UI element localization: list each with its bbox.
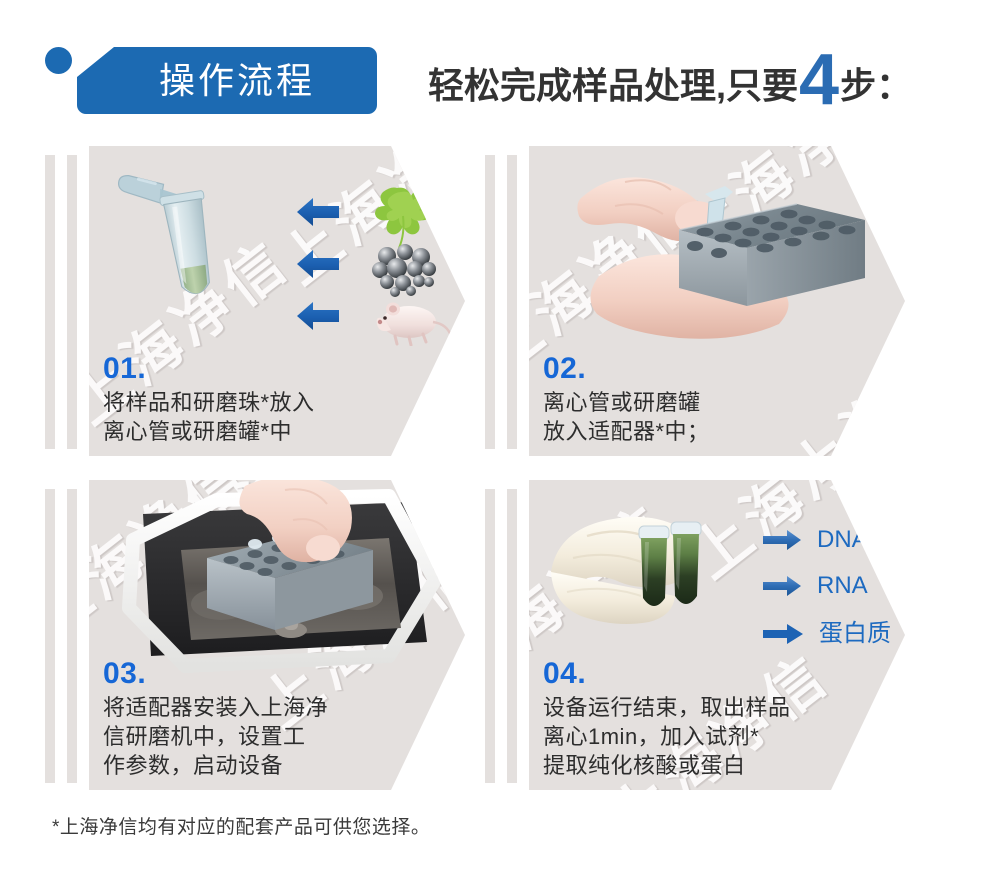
page-header: 操作流程 轻松完成样品处理,只要 4 步： <box>0 0 1000 140</box>
step-photo-01 <box>89 146 465 346</box>
step-description: 将样品和研磨珠*放入 离心管或研磨罐*中 <box>103 388 443 446</box>
output-label-protein: 蛋白质 <box>819 622 891 646</box>
arrow-right-icon <box>763 576 801 596</box>
card-accent-bar <box>45 155 55 449</box>
steel-beads-icon <box>372 244 436 297</box>
card-accent-bar <box>507 155 517 449</box>
step-text-block: 01. 将样品和研磨珠*放入 离心管或研磨罐*中 <box>103 354 443 446</box>
step-text-block: 03. 将适配器安装入上海净 信研磨机中，设置工 作参数，启动设备 <box>103 659 443 780</box>
headline-prefix: 轻松完成样品处理,只要 <box>428 57 798 109</box>
header-dot-decoration <box>45 47 72 74</box>
step-card-body: 上海净信 上海净信 上海净信 <box>529 480 905 790</box>
step-text-block: 02. 离心管或研磨罐 放入适配器*中； <box>543 354 883 446</box>
card-accent-bar <box>485 155 495 449</box>
page-title: 轻松完成样品处理,只要 4 步： <box>428 46 912 116</box>
section-badge: 操作流程 <box>77 47 377 114</box>
arrow-left-icon <box>297 302 339 330</box>
arrow-right-icon <box>763 624 803 644</box>
step-card-03: 上海净信 上海净信 上海净信 <box>45 480 465 790</box>
card-accent-bar <box>67 155 77 449</box>
card-accent-bar <box>485 489 495 783</box>
headline-step-count: 4 <box>799 52 839 110</box>
step-photo-02 <box>529 146 905 346</box>
arrow-left-icon <box>297 250 339 278</box>
arrow-right-icon <box>763 530 801 550</box>
hand-and-adapter-block-illustration <box>529 146 905 346</box>
step-card-04: 上海净信 上海净信 上海净信 <box>485 480 905 790</box>
footnote: *上海净信均有对应的配套产品可供您选择。 <box>52 812 430 839</box>
output-label-dna: DNA <box>817 528 868 552</box>
card-accent-bar <box>67 489 77 783</box>
tube-and-samples-illustration <box>89 146 465 346</box>
steps-grid: 上海净信 上海净信 上海净信 <box>0 146 1000 796</box>
leaf-icon <box>375 188 431 249</box>
step-card-body: 上海净信 上海净信 上海净信 <box>89 146 465 456</box>
step-card-02: 上海净信 上海净信 上海净信 <box>485 146 905 456</box>
step-photo-04: DNA RNA 蛋白质 <box>529 480 905 680</box>
step-number: 03. <box>103 659 443 689</box>
step-number: 04. <box>543 659 883 689</box>
step-card-01: 上海净信 上海净信 上海净信 <box>45 146 465 456</box>
step-card-body: 上海净信 上海净信 上海净信 <box>529 146 905 456</box>
step-number: 02. <box>543 354 883 384</box>
headline-suffix: 步： <box>840 57 912 109</box>
step-card-body: 上海净信 上海净信 上海净信 <box>89 480 465 790</box>
card-accent-bar <box>45 489 55 783</box>
step-photo-03 <box>89 480 465 680</box>
installing-adapter-into-grinder-illustration <box>89 480 465 680</box>
mouse-icon <box>377 303 451 346</box>
section-badge-label: 操作流程 <box>139 63 315 99</box>
card-accent-bar <box>507 489 517 783</box>
step-description: 将适配器安装入上海净 信研磨机中，设置工 作参数，启动设备 <box>103 693 443 780</box>
output-label-rna: RNA <box>817 574 868 598</box>
step-description: 设备运行结束，取出样品 离心1min，加入试剂* 提取纯化核酸或蛋白 <box>543 693 883 780</box>
page-root: 操作流程 轻松完成样品处理,只要 4 步： 上海净信 上海净信 上海净信 <box>0 0 1000 875</box>
step-text-block: 04. 设备运行结束，取出样品 离心1min，加入试剂* 提取纯化核酸或蛋白 <box>543 659 883 780</box>
arrow-left-icon <box>297 198 339 226</box>
step-description: 离心管或研磨罐 放入适配器*中； <box>543 388 883 446</box>
step-number: 01. <box>103 354 443 384</box>
